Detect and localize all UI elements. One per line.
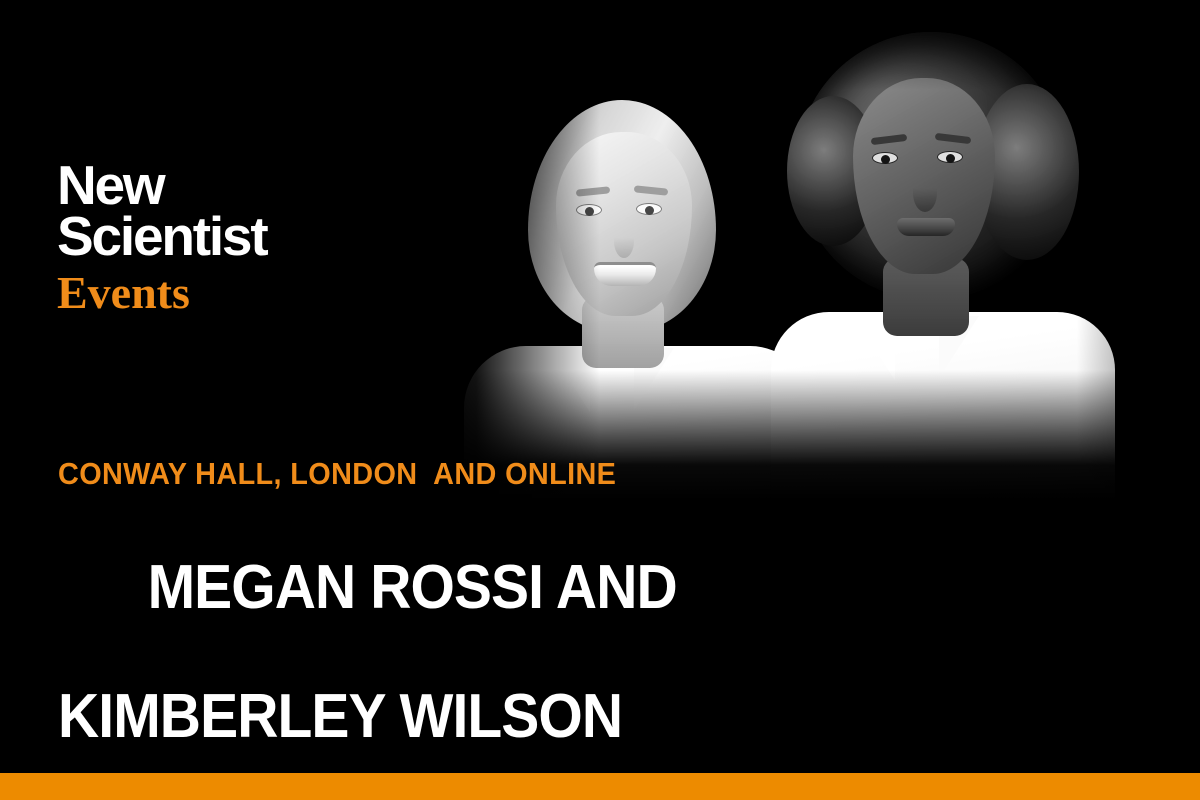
eyebrow-right: [634, 185, 669, 196]
portrait-kimberley-wilson: [775, 12, 1105, 492]
face-left: [556, 132, 692, 316]
speaker-photos: [430, 0, 1200, 500]
new-scientist-events-logo: New Scientist Events: [57, 160, 266, 316]
eyebrow-right: [935, 133, 972, 144]
event-promo-poster: New Scientist Events CONWAY HALL, LONDON…: [0, 0, 1200, 800]
event-text-block: CONWAY HALL, LONDON AND ONLINE MEGAN ROS…: [58, 458, 894, 800]
face-right: [853, 78, 995, 274]
event-location-line: CONWAY HALL, LONDON AND ONLINE: [58, 458, 835, 489]
logo-line-new: New: [57, 160, 266, 211]
portrait-megan-rossi: [470, 28, 800, 498]
event-headline: MEGAN ROSSI AND KIMBERLEY WILSON: [58, 498, 827, 800]
eye-left: [872, 152, 898, 164]
smiling-mouth: [897, 218, 955, 236]
logo-line-events: Events: [57, 270, 266, 316]
eye-right: [937, 151, 963, 163]
nose: [913, 174, 937, 212]
bottom-orange-bar: [0, 773, 1200, 800]
headline-line-1: MEGAN ROSSI AND: [148, 553, 677, 622]
eyebrow-left: [576, 186, 611, 197]
pupil-right: [645, 206, 654, 215]
pupil-right: [946, 154, 955, 163]
eyebrow-left: [871, 134, 908, 145]
eye-left: [576, 204, 602, 216]
smiling-mouth: [594, 262, 656, 286]
pupil-left: [585, 207, 594, 216]
logo-line-scientist: Scientist: [57, 211, 266, 262]
nose: [614, 224, 634, 258]
pupil-left: [881, 155, 890, 164]
headline-line-2: KIMBERLEY WILSON: [58, 687, 827, 747]
eye-right: [636, 203, 662, 215]
